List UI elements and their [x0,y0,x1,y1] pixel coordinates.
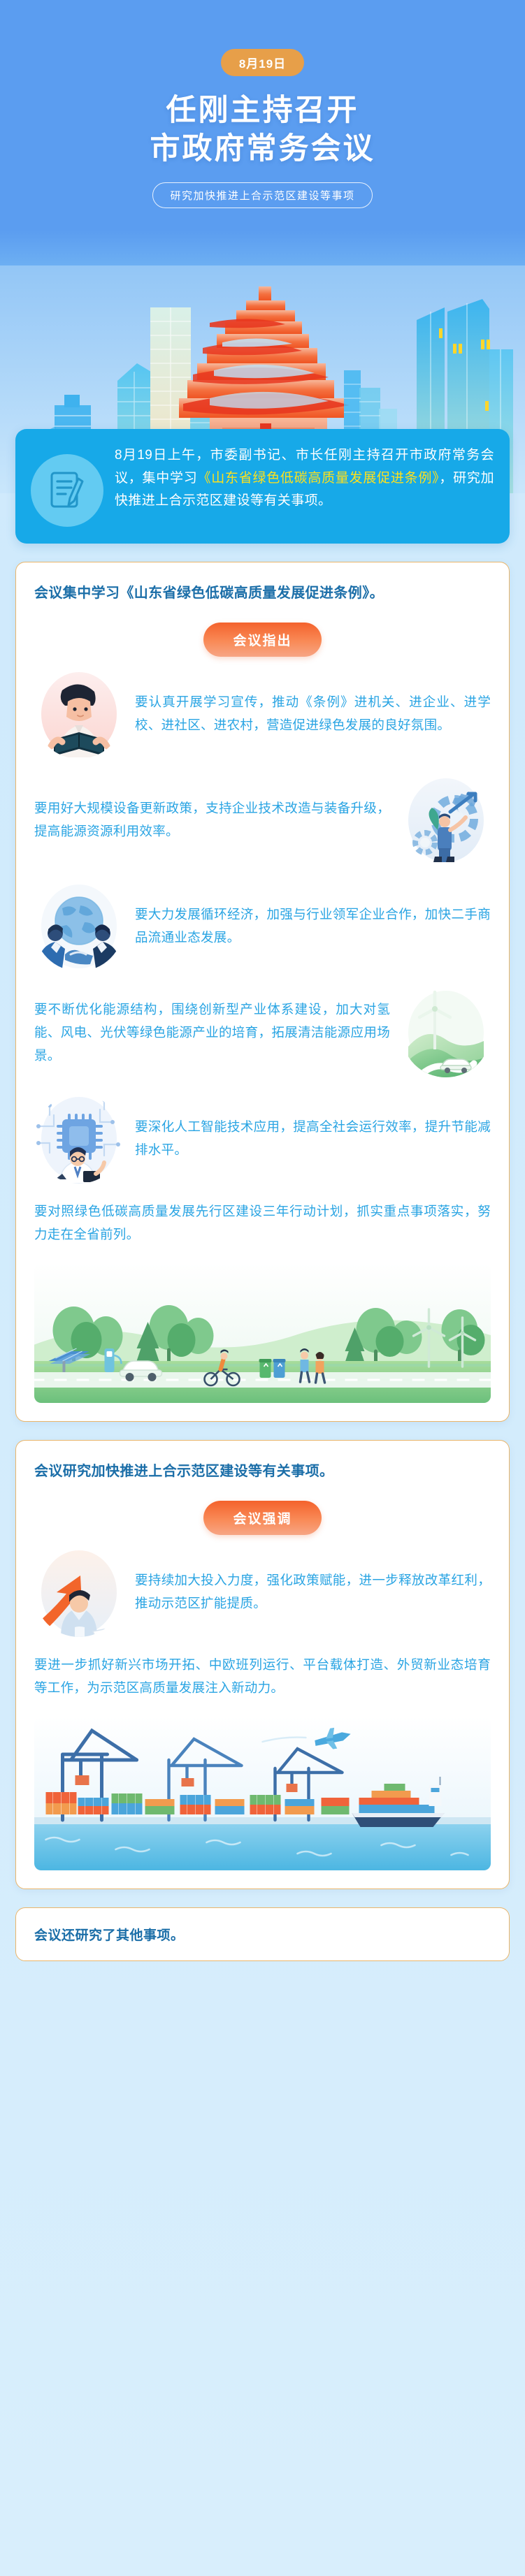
point-item: 要用好大规模设备更新政策，支持企业技术改造与装备升级，提高能源资源利用效率。 [34,776,491,865]
section-card-2: 会议研究加快推进上合示范区建设等有关事项。 会议强调 [15,1440,510,1889]
point-text: 要大力发展循环经济，加强与行业领军企业合作，加快二手商品流通业态发展。 [135,903,491,949]
point-text: 要持续加大投入力度，强化政策赋能，进一步释放改革红利，推动示范区扩能提质。 [135,1569,491,1615]
title-line-2: 市政府常务会议 [0,130,525,168]
section2-badge: 会议强调 [203,1501,321,1535]
section1-heading: 会议集中学习《山东省绿色低碳高质量发展促进条例》。 [34,582,491,604]
section1-badge-row: 会议指出 [34,623,491,657]
section1-badge: 会议指出 [203,623,321,657]
date-badge: 8月19日 [221,49,304,76]
point-text: 要进一步抓好新兴市场开拓、中欧班列运行、平台载体打造、外贸新业态培育等工作，为示… [34,1654,491,1700]
wind-turbine-green-road-icon [401,988,491,1077]
point-text: 要不断优化能源结构，围绕创新型产业体系建设，加大对氢能、风电、光伏等绿色能源产业… [34,998,390,1068]
section2-heading: 会议研究加快推进上合示范区建设等有关事项。 [34,1460,491,1483]
point-item: 要大力发展循环经济，加强与行业领军企业合作，加快二手商品流通业态发展。 [34,882,491,971]
point-text: 要深化人工智能技术应用，提高全社会运行效率，提升节能减排水平。 [135,1116,491,1162]
point-text: 要认真开展学习宣传，推动《条例》进机关、进企业、进学校、进社区、进农村，营造促进… [135,691,491,737]
title-line-1: 任刚主持召开 [0,92,525,130]
infographic-page: 8月19日 任刚主持召开 市政府常务会议 研究加快推进上合示范区建设等事项 [0,0,525,2576]
point-item: 要认真开展学习宣传，推动《条例》进机关、进企业、进学校、进社区、进农村，营造促进… [34,669,491,759]
section2-badge-row: 会议强调 [34,1501,491,1535]
point-item: 要深化人工智能技术应用，提高全社会运行效率，提升节能减排水平。 [34,1094,491,1184]
point-item: 要持续加大投入力度，强化政策赋能，进一步释放改革红利，推动示范区扩能提质。 [34,1548,491,1637]
point-item: 要对照绿色低碳高质量发展先行区建设三年行动计划，抓实重点事项落实，努力走在全省前… [34,1200,491,1246]
ai-chip-scientist-icon [34,1094,124,1184]
content-area: 8月19日上午，市委副书记、市长任刚主持召开市政府常务会议，集中学习《山东省绿色… [0,429,525,1989]
hero-header: 8月19日 任刚主持召开 市政府常务会议 研究加快推进上合示范区建设等事项 [0,0,525,208]
green-city-park-banner [34,1263,491,1403]
point-text: 要用好大规模设备更新政策，支持企业技术改造与装备升级，提高能源资源利用效率。 [34,797,390,843]
page-title: 任刚主持召开 市政府常务会议 [0,92,525,168]
footer-note-card: 会议还研究了其他事项。 [15,1907,510,1961]
person-upward-arrow-icon [34,1548,124,1637]
point-item: 要进一步抓好新兴市场开拓、中欧班列运行、平台载体打造、外贸新业态培育等工作，为示… [34,1654,491,1700]
document-pen-icon [31,454,103,527]
gear-worker-growth-icon [401,776,491,865]
point-item: 要不断优化能源结构，围绕创新型产业体系建设，加大对氢能、风电、光伏等绿色能源产业… [34,988,491,1077]
person-reading-icon [34,669,124,759]
subtitle-pill: 研究加快推进上合示范区建设等事项 [152,182,372,208]
intro-text: 8月19日上午，市委副书记、市长任刚主持召开市政府常务会议，集中学习《山东省绿色… [115,444,494,513]
intro-text-highlight: 《山东省绿色低碳高质量发展促进条例》 [197,471,439,486]
intro-summary-card: 8月19日上午，市委副书记、市长任刚主持召开市政府常务会议，集中学习《山东省绿色… [15,429,510,544]
handshake-globe-icon [34,882,124,971]
point-text: 要对照绿色低碳高质量发展先行区建设三年行动计划，抓实重点事项落实，努力走在全省前… [34,1200,491,1246]
section-card-1: 会议集中学习《山东省绿色低碳高质量发展促进条例》。 会议指出 [15,562,510,1422]
port-container-ship-banner [34,1717,491,1870]
